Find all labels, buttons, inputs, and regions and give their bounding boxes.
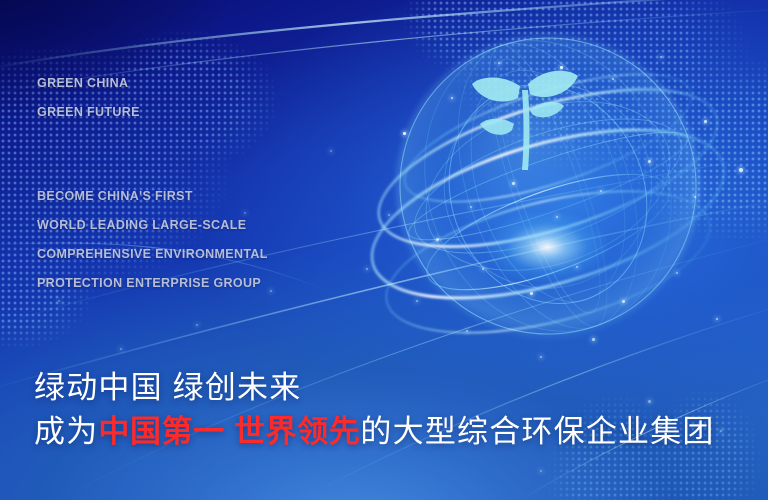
english-tagline-top: GREEN CHINA GREEN FUTURE <box>37 69 140 127</box>
english-tagline-top-line-1: GREEN CHINA <box>37 69 140 98</box>
english-tagline-top-line-2: GREEN FUTURE <box>37 98 140 127</box>
headline-line-2: 成为中国第一 世界领先的大型综合环保企业集团 <box>34 410 715 454</box>
english-tagline-main-line-2: WORLD LEADING LARGE-SCALE <box>37 211 268 240</box>
headline-line-2-prefix: 成为 <box>34 414 98 449</box>
english-tagline-main-line-4: PROTECTION ENTERPRISE GROUP <box>37 269 268 298</box>
english-tagline-main-line-1: BECOME CHINA'S FIRST <box>37 182 268 211</box>
headline-line-1: 绿动中国 绿创未来 <box>34 366 715 410</box>
headline-line-2-suffix: 的大型综合环保企业集团 <box>360 414 714 449</box>
headline-accent-text: 中国第一 世界领先 <box>98 414 360 449</box>
english-tagline-main-line-3: COMPREHENSIVE ENVIRONMENTAL <box>37 240 268 269</box>
green-china-banner: GREEN CHINA GREEN FUTURE BECOME CHINA'S … <box>0 0 768 500</box>
wireframe-globe <box>352 18 752 374</box>
english-tagline-main: BECOME CHINA'S FIRST WORLD LEADING LARGE… <box>37 182 268 298</box>
headline: 绿动中国 绿创未来 成为中国第一 世界领先的大型综合环保企业集团 <box>34 366 715 454</box>
